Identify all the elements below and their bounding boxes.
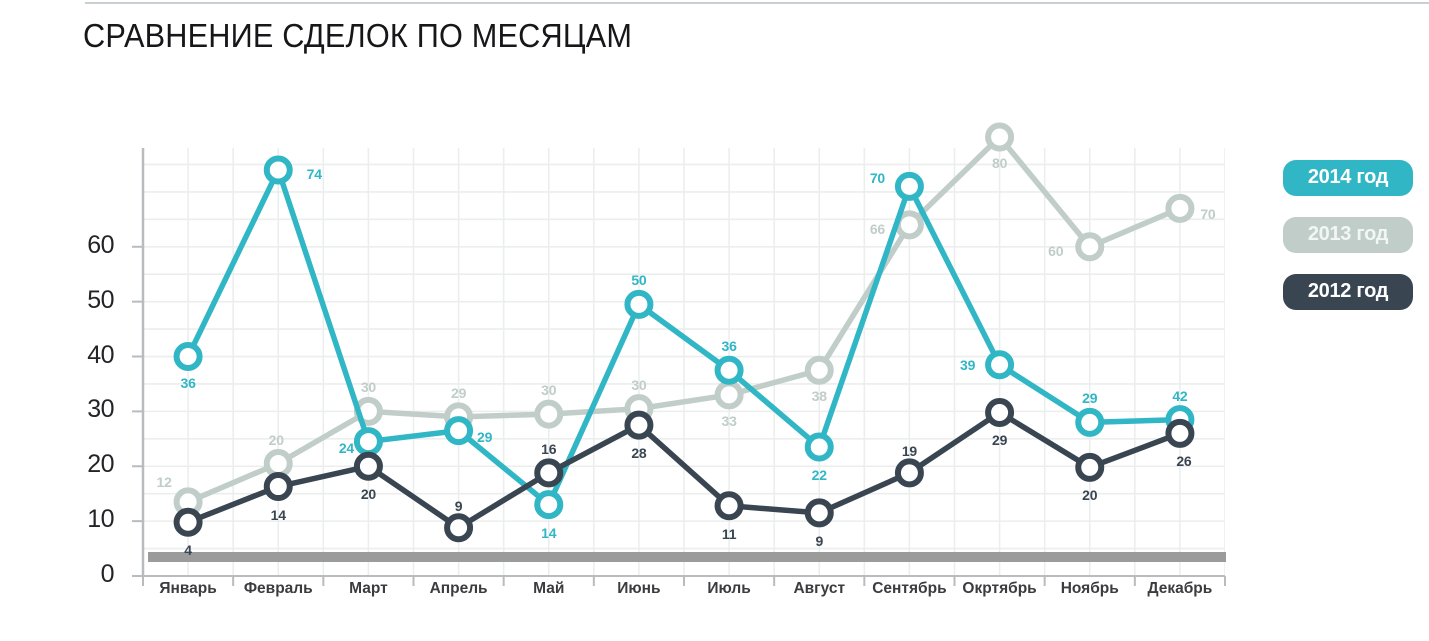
data-label: 28 — [631, 445, 646, 461]
legend-item-2014[interactable]: 2014 год — [1283, 160, 1413, 196]
data-label: 29 — [1082, 390, 1097, 406]
data-label: 14 — [541, 525, 556, 541]
data-label: 9 — [815, 533, 823, 549]
data-label: 38 — [812, 388, 827, 404]
data-label: 30 — [631, 377, 646, 393]
x-tick-label-8: Август — [793, 580, 845, 598]
axis-layer — [100, 140, 1260, 600]
data-label: 4 — [184, 542, 192, 558]
x-tick-label-2: Февраль — [244, 580, 313, 598]
data-label: 24 — [339, 440, 354, 456]
x-tick-label-10: Окртябрь — [962, 580, 1036, 598]
x-tick-label-1: Январь — [159, 580, 216, 598]
data-label: 33 — [721, 413, 736, 429]
legend-item-2013[interactable]: 2013 год — [1283, 217, 1413, 253]
data-label: 30 — [361, 379, 376, 395]
data-label: 66 — [870, 221, 885, 237]
data-label: 30 — [541, 382, 556, 398]
x-tick-label-11: Ноябрь — [1061, 580, 1119, 598]
data-label: 20 — [1082, 487, 1097, 503]
data-label: 70 — [1200, 206, 1215, 222]
top-divider — [85, 2, 1429, 4]
chart-page: СРАВНЕНИЕ СДЕЛОК ПО МЕСЯЦАМ 010203040506… — [0, 0, 1429, 641]
data-label: 9 — [455, 498, 463, 514]
y-tick-label: 50 — [72, 286, 114, 315]
y-tick-label: 40 — [72, 341, 114, 370]
y-tick-label: 0 — [72, 560, 114, 589]
x-tick-label-7: Июль — [707, 580, 750, 598]
y-tick-label: 60 — [72, 231, 114, 260]
data-label: 42 — [1172, 388, 1187, 404]
x-tick-label-9: Сентябрь — [872, 580, 946, 598]
x-tick-label-6: Июнь — [617, 580, 660, 598]
data-label: 11 — [722, 526, 736, 542]
data-label: 20 — [269, 432, 284, 448]
y-tick-label: 20 — [72, 450, 114, 479]
data-label: 29 — [477, 429, 492, 445]
data-label: 50 — [631, 272, 646, 288]
legend: 2014 год2013 год2012 год — [1283, 160, 1413, 331]
y-tick-label: 30 — [72, 395, 114, 424]
data-label: 29 — [451, 385, 466, 401]
x-tick-label-4: Апрель — [430, 580, 488, 598]
data-label: 22 — [812, 467, 827, 483]
data-label: 16 — [541, 441, 556, 457]
data-label: 39 — [960, 357, 975, 373]
data-label: 36 — [721, 338, 736, 354]
data-label: 74 — [307, 166, 322, 182]
data-label: 60 — [1048, 243, 1063, 259]
x-tick-label-5: Май — [533, 580, 564, 598]
data-label: 19 — [902, 443, 917, 459]
data-label: 12 — [156, 474, 171, 490]
legend-item-2012[interactable]: 2012 год — [1283, 274, 1413, 310]
x-tick-label-3: Март — [349, 580, 388, 598]
data-label: 80 — [992, 155, 1007, 171]
data-label: 36 — [180, 375, 195, 391]
y-tick-label: 10 — [72, 505, 114, 534]
data-label: 14 — [271, 507, 286, 523]
data-label: 20 — [361, 486, 376, 502]
data-label: 26 — [1176, 453, 1191, 469]
data-label: 29 — [992, 432, 1007, 448]
data-label: 70 — [870, 170, 885, 186]
x-tick-label-12: Декабрь — [1148, 580, 1213, 598]
page-title: СРАВНЕНИЕ СДЕЛОК ПО МЕСЯЦАМ — [83, 17, 632, 55]
